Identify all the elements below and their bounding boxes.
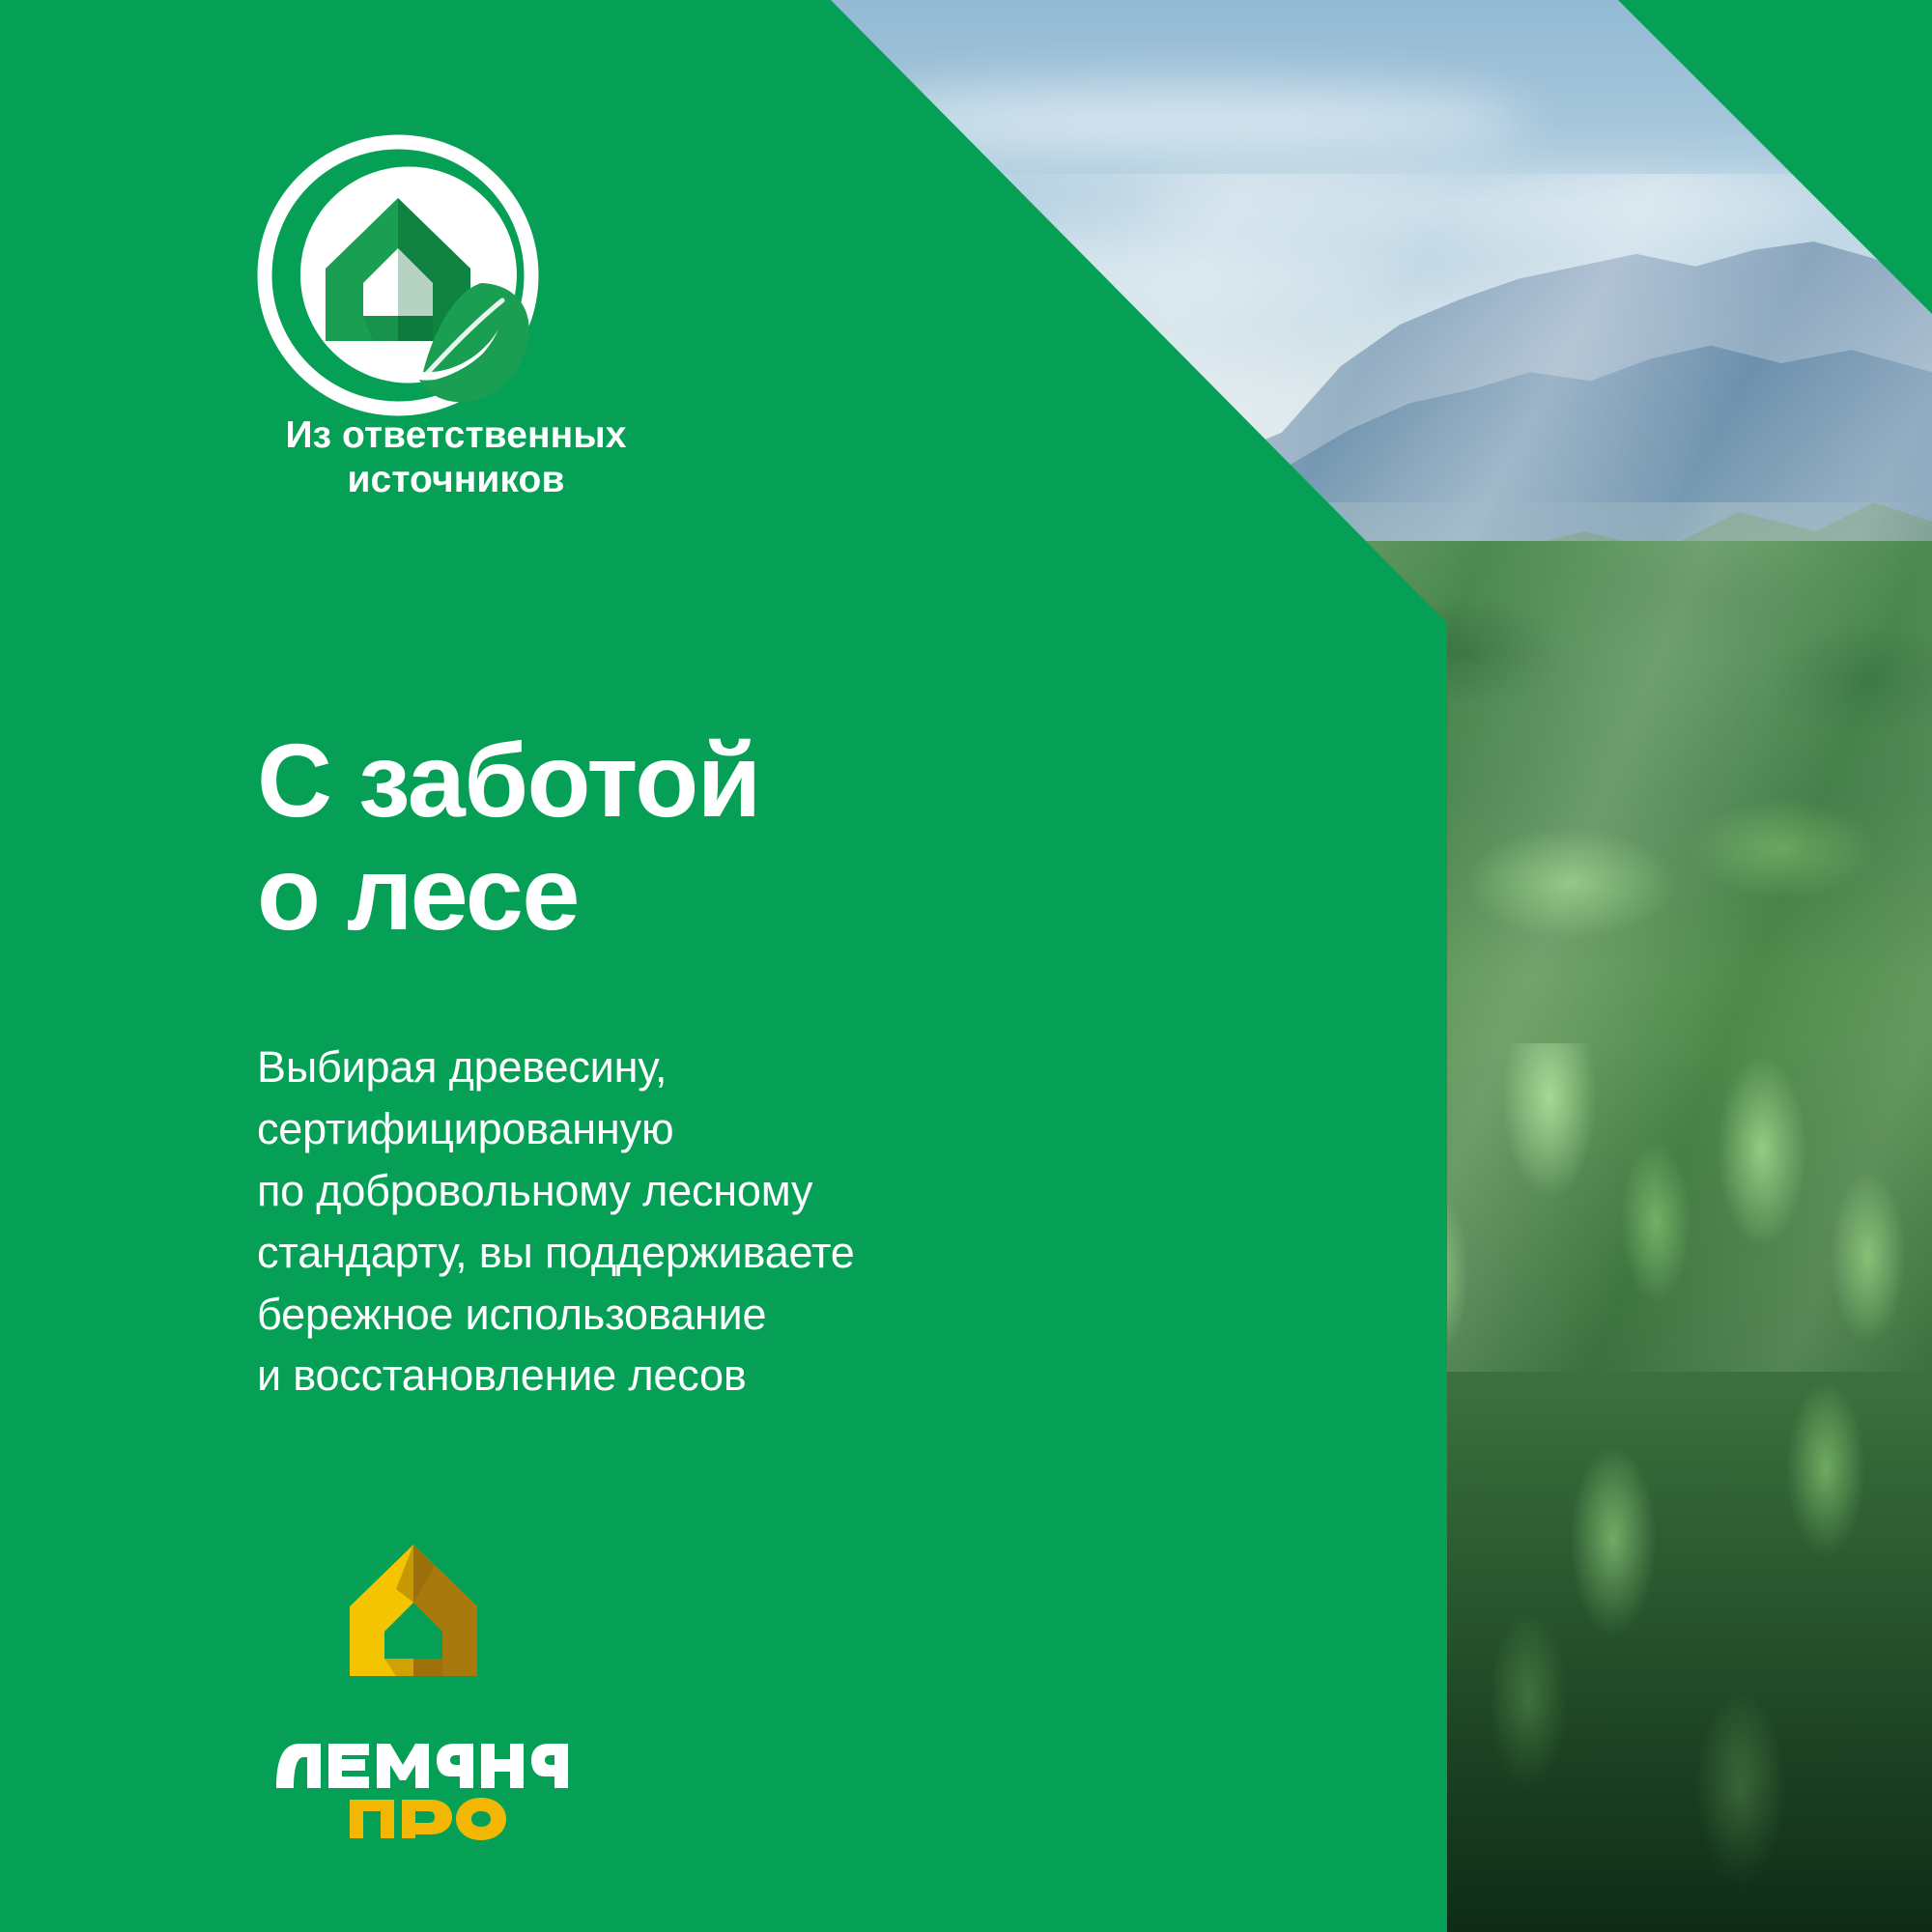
body-line-1: Выбирая древесину, xyxy=(257,1037,1030,1098)
body-line-5: бережное использование xyxy=(257,1284,1030,1346)
poster-canvas: Из ответственных источников С заботой о … xyxy=(0,0,1932,1932)
body-line-6: и восстановление лесов xyxy=(257,1345,1030,1406)
emblem-caption-line-1: Из ответственных xyxy=(253,413,659,458)
lemana-wordmark xyxy=(261,1707,609,1842)
headline-line-1: С заботой xyxy=(257,724,1049,838)
lemana-pro-logo xyxy=(261,1541,609,1842)
responsible-sourcing-emblem-icon xyxy=(253,130,543,420)
cloud xyxy=(1140,174,1874,230)
page-title: С заботой о лесе xyxy=(257,724,1049,950)
headline-line-2: о лесе xyxy=(257,838,1049,951)
lemana-house-icon xyxy=(346,1541,481,1686)
body-line-2: сертифицированную xyxy=(257,1098,1030,1160)
emblem-caption: Из ответственных источников xyxy=(253,413,659,502)
body-line-3: по добровольному лесному xyxy=(257,1160,1030,1222)
body-paragraph: Выбирая древесину, сертифицированную по … xyxy=(257,1037,1030,1406)
body-line-4: стандарту, вы поддерживаете xyxy=(257,1222,1030,1284)
emblem-caption-line-2: источников xyxy=(253,458,659,502)
